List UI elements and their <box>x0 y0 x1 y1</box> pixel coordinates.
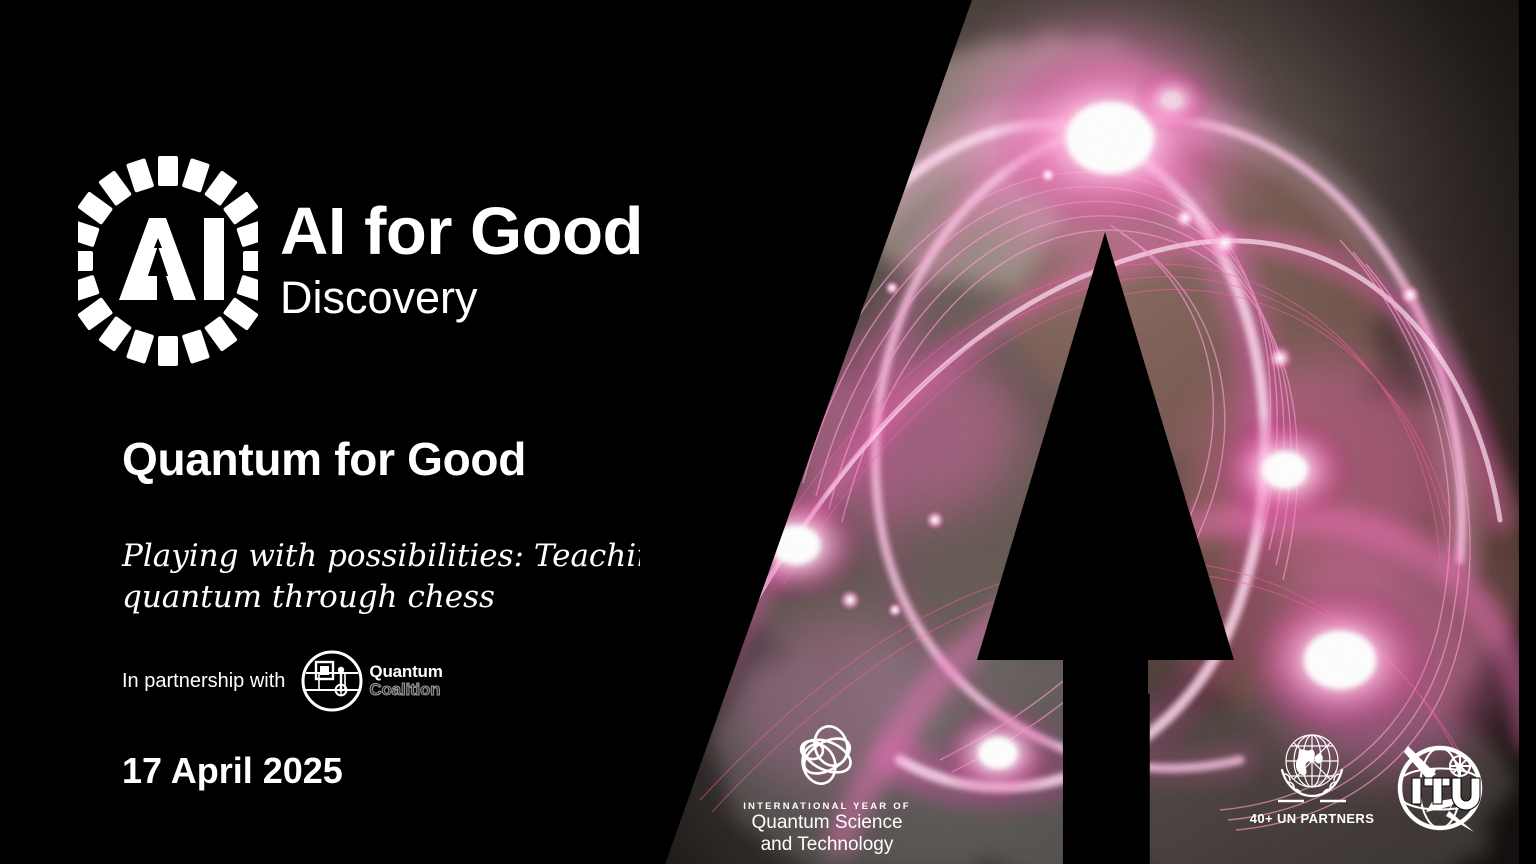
itu-globe-icon <box>1388 736 1492 840</box>
partnership-row: In partnership with <box>122 648 443 714</box>
brand-text-block: AI for Good Discovery <box>280 198 643 324</box>
qc-word-quantum: Quantum <box>369 663 442 681</box>
quantum-coalition-mark-icon <box>299 648 365 714</box>
left-content-panel: AI for Good Discovery Quantum for Good P… <box>0 0 660 864</box>
quantum-coalition-logo: Quantum Coalition <box>299 648 442 714</box>
iyq-logo: INTERNATIONAL YEAR OF Quantum Science an… <box>752 720 902 856</box>
brand-subtitle: Discovery <box>280 275 643 320</box>
session-title: Playing with possibilities: Teaching qua… <box>122 536 682 618</box>
iyq-line-2: and Technology <box>761 834 894 856</box>
un-partners-caption: 40+ UN PARTNERS <box>1250 811 1375 826</box>
quantum-coalition-wordmark: Quantum Coalition <box>369 663 442 699</box>
event-date: 17 April 2025 <box>122 750 343 792</box>
united-nations-emblem-icon <box>1266 728 1358 808</box>
iyq-eyebrow: INTERNATIONAL YEAR OF <box>743 801 911 812</box>
iyq-line-1: Quantum Science <box>751 812 902 834</box>
page-title: Quantum for Good <box>122 432 526 486</box>
qc-word-coalition: Coalition <box>369 681 442 699</box>
itu-logo <box>1388 736 1492 845</box>
brand-title: AI for Good <box>280 198 643 265</box>
ai-for-good-logo-icon <box>78 152 258 370</box>
atom-orbitals-icon <box>785 720 869 794</box>
brand-lockup: AI for Good Discovery <box>78 152 643 370</box>
promo-banner: AI for Good Discovery Quantum for Good P… <box>0 0 1536 864</box>
partnership-label: In partnership with <box>122 670 285 693</box>
un-logo: 40+ UN PARTNERS <box>1248 728 1376 826</box>
